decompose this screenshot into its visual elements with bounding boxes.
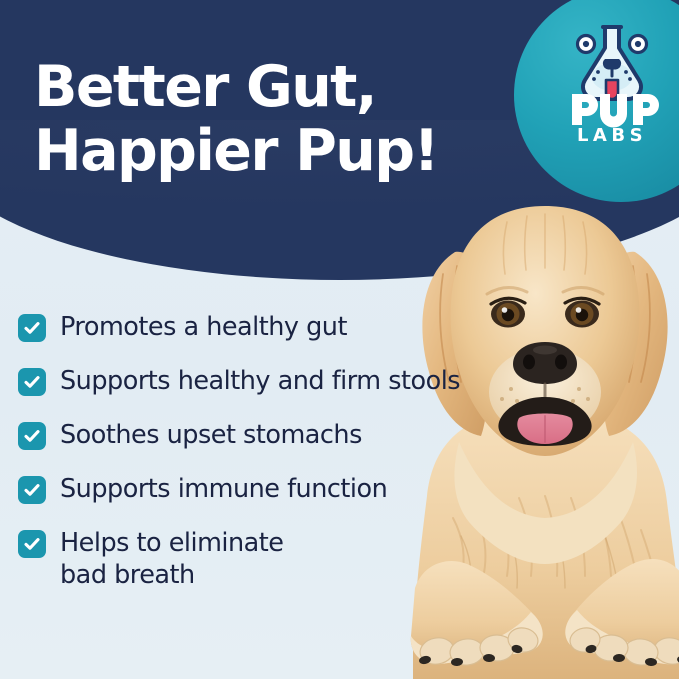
list-item: Promotes a healthy gut	[18, 312, 518, 343]
checkbox-checked-icon	[18, 476, 46, 504]
benefit-label: Supports healthy and firm stools	[60, 366, 460, 397]
headline-line-1: Better Gut,	[34, 56, 504, 120]
product-banner: LABS	[0, 0, 679, 679]
checkbox-checked-icon	[18, 314, 46, 342]
page-title: Better Gut, Happier Pup!	[34, 56, 504, 184]
benefit-label: Promotes a healthy gut	[60, 312, 347, 343]
list-item: Supports immune function	[18, 474, 518, 505]
benefit-label: Helps to eliminate bad breath	[60, 528, 284, 590]
pup-labs-logo: LABS	[556, 22, 668, 144]
list-item: Helps to eliminate bad breath	[18, 528, 518, 590]
checkbox-checked-icon	[18, 368, 46, 396]
benefits-list: Promotes a healthy gut Supports healthy …	[18, 312, 518, 591]
checkbox-checked-icon	[18, 530, 46, 558]
list-item: Soothes upset stomachs	[18, 420, 518, 451]
benefit-label: Supports immune function	[60, 474, 387, 505]
svg-text:LABS: LABS	[577, 125, 647, 144]
list-item: Supports healthy and firm stools	[18, 366, 518, 397]
headline-line-2: Happier Pup!	[34, 120, 504, 184]
benefit-label: Soothes upset stomachs	[60, 420, 362, 451]
checkbox-checked-icon	[18, 422, 46, 450]
